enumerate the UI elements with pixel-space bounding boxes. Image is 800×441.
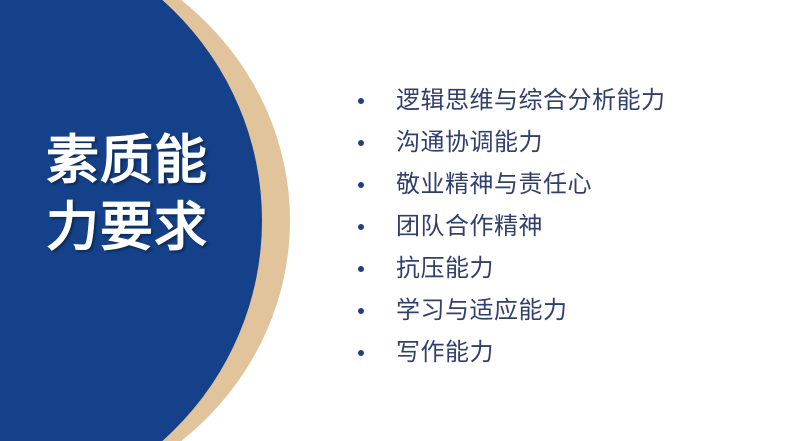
bullet-dot-icon — [358, 266, 364, 272]
bullet-dot-icon — [358, 350, 364, 356]
list-item: 学习与适应能力 — [358, 290, 778, 332]
list-item-label: 逻辑思维与综合分析能力 — [396, 88, 778, 114]
list-item-label: 抗压能力 — [396, 256, 778, 282]
list-item: 沟通协调能力 — [358, 122, 778, 164]
slide-canvas: 素质能 力要求 逻辑思维与综合分析能力 沟通协调能力 敬业精神与责任心 团队合作… — [0, 0, 800, 441]
list-item-label: 敬业精神与责任心 — [396, 172, 778, 198]
list-item: 逻辑思维与综合分析能力 — [358, 80, 778, 122]
list-item-label: 学习与适应能力 — [396, 298, 778, 324]
list-item-label: 写作能力 — [396, 340, 778, 366]
list-item: 团队合作精神 — [358, 206, 778, 248]
list-item: 抗压能力 — [358, 248, 778, 290]
bullet-dot-icon — [358, 224, 364, 230]
list-item-label: 沟通协调能力 — [396, 130, 778, 156]
page-title-line-1: 素质能 — [46, 128, 246, 195]
bullet-dot-icon — [358, 98, 364, 104]
bullet-dot-icon — [358, 308, 364, 314]
page-title-line-2: 力要求 — [46, 195, 246, 262]
competency-bullet-list: 逻辑思维与综合分析能力 沟通协调能力 敬业精神与责任心 团队合作精神 抗压能力 … — [358, 80, 778, 374]
list-item: 敬业精神与责任心 — [358, 164, 778, 206]
list-item: 写作能力 — [358, 332, 778, 374]
bullet-dot-icon — [358, 182, 364, 188]
bullet-dot-icon — [358, 140, 364, 146]
page-title: 素质能 力要求 — [46, 128, 246, 262]
list-item-label: 团队合作精神 — [396, 214, 778, 240]
